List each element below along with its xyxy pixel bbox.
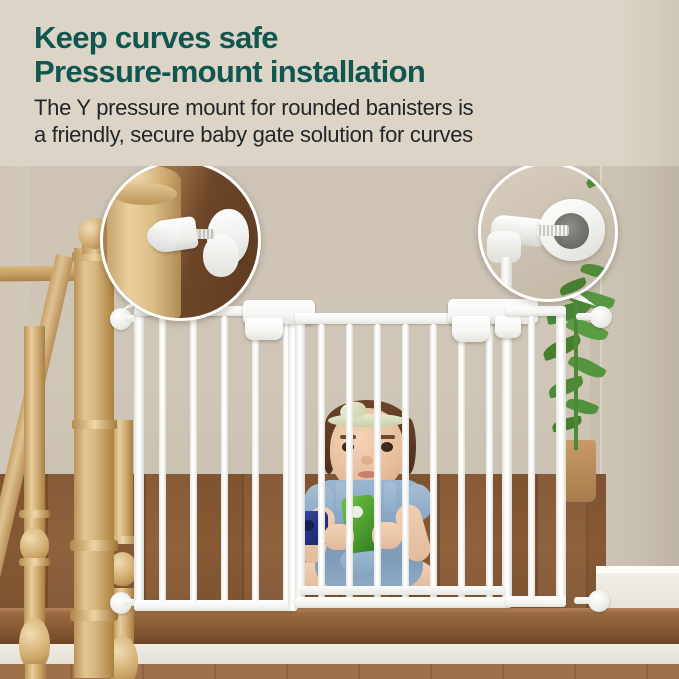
gate-left-bottom-rail [134, 600, 294, 611]
subheading-line-1: The Y pressure mount for rounded baniste… [34, 94, 644, 121]
gate-bar [252, 316, 259, 602]
gate-bar [528, 316, 535, 598]
gate-latch-catch [495, 316, 521, 338]
right-mount-cup-bottom [588, 590, 610, 612]
gate-bar [430, 324, 437, 599]
gate-latch-button[interactable] [452, 316, 490, 342]
gate-right-post [556, 306, 566, 606]
inset-banister-cap-ring [113, 183, 177, 205]
inset-gate-post [501, 257, 512, 301]
gate-bar [458, 324, 465, 599]
product-marketing-image: Keep curves safe Pressure-mount installa… [0, 0, 679, 679]
gate-bar [190, 316, 197, 602]
gate-right-bottom-rail [506, 596, 566, 607]
gate-bar [318, 324, 325, 599]
gate-bar [486, 324, 493, 599]
gate-hinge-block-lower [245, 318, 283, 340]
right-inset-content [481, 165, 615, 299]
header-band: Keep curves safe Pressure-mount installa… [0, 0, 679, 166]
headline-line-2: Pressure-mount installation [34, 56, 634, 88]
inset-mount-cup-lower [203, 235, 239, 277]
right-mount-stem-bottom [574, 597, 590, 604]
gate-threshold-bar [300, 586, 505, 595]
gate-bar [159, 316, 166, 602]
gate-bar [346, 324, 353, 599]
left-inset-callout [100, 160, 261, 321]
gate-bar [374, 324, 381, 599]
right-inset-callout [478, 162, 618, 302]
gate-door-left-post [295, 313, 305, 608]
gate-door-right-post [502, 313, 512, 608]
right-mount-stem [576, 313, 592, 320]
inset-cup-bolt [537, 225, 569, 236]
headline-line-1: Keep curves safe [34, 22, 634, 54]
gate-left-post [134, 306, 144, 611]
gate-bar [221, 316, 228, 602]
gate-bar [402, 324, 409, 599]
left-inset-content [103, 163, 258, 318]
subheading-line-2: a friendly, secure baby gate solution fo… [34, 121, 644, 148]
